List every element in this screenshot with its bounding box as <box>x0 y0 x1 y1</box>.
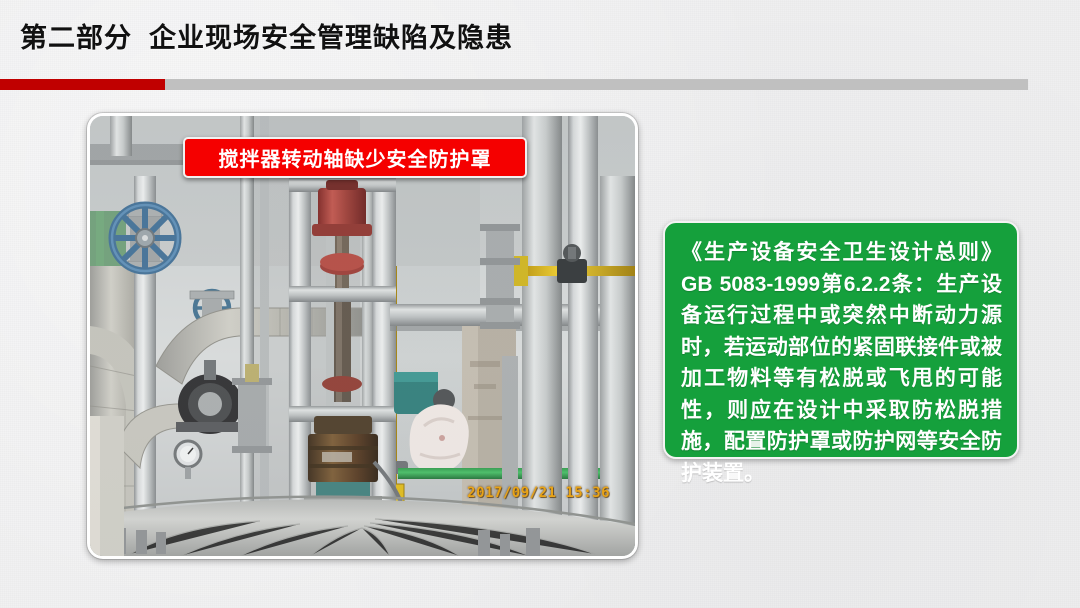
divider-accent-segment <box>0 79 165 90</box>
header-divider <box>0 79 1028 90</box>
photo-frame: 搅拌器转动轴缺少安全防护罩 2017/09/21 15:36 <box>90 116 635 556</box>
regulation-callout: 《生产设备安全卫生设计总则》GB 5083-1999第6.2.2条：生产设备运行… <box>663 221 1019 459</box>
photo-timestamp: 2017/09/21 15:36 <box>467 485 610 501</box>
photo-caption-label: 搅拌器转动轴缺少安全防护罩 <box>219 143 492 172</box>
photo-card: 搅拌器转动轴缺少安全防护罩 2017/09/21 15:36 <box>87 113 638 559</box>
page-title: 第二部分 企业现场安全管理缺陷及隐患 <box>20 16 513 55</box>
photo-caption-banner: 搅拌器转动轴缺少安全防护罩 <box>183 137 527 178</box>
regulation-text: 《生产设备安全卫生设计总则》GB 5083-1999第6.2.2条：生产设备运行… <box>681 237 1002 489</box>
slide-canvas: 第二部分 企业现场安全管理缺陷及隐患 <box>0 0 1080 608</box>
divider-track-segment <box>165 79 1028 90</box>
